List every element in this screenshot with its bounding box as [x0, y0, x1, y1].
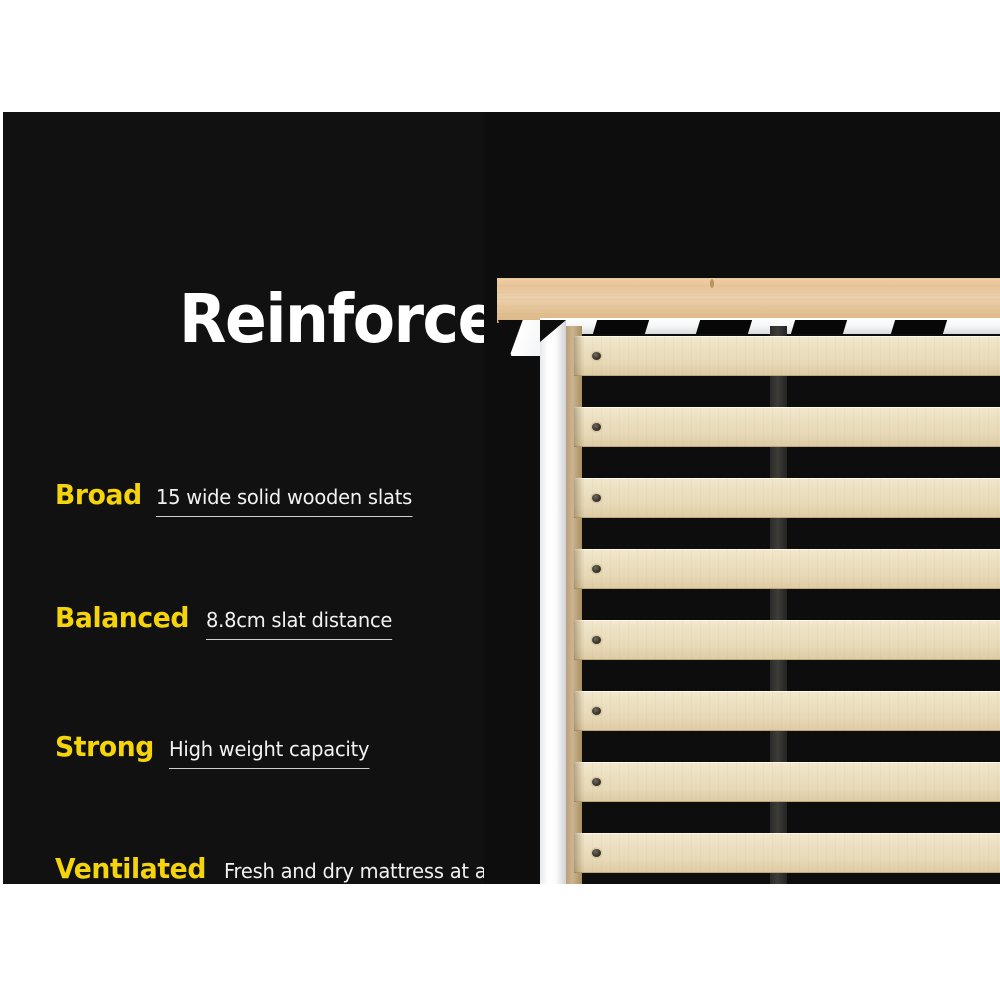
slat-end-shadow	[574, 407, 584, 447]
feature-term: Broad	[55, 478, 142, 511]
slat-screw	[592, 565, 601, 573]
wood-grain-texture	[497, 278, 1000, 323]
slat-end-shadow	[574, 336, 584, 376]
slat-end-shadow	[574, 833, 584, 873]
rail-notch	[791, 320, 847, 334]
slat-end-shadow	[574, 478, 584, 518]
rail-notch	[593, 320, 649, 334]
wood-knot	[710, 279, 714, 288]
wooden-slat	[574, 549, 1000, 589]
slat-screw	[592, 849, 601, 857]
feature-row-balanced: Balanced 8.8cm slat distance	[55, 601, 402, 640]
product-photo	[484, 112, 1000, 884]
feature-description: 15 wide solid wooden slats	[156, 485, 412, 517]
pine-top-rail	[497, 278, 1000, 323]
corner-leg-bracket	[498, 320, 546, 356]
wooden-slat	[574, 478, 1000, 518]
wood-grain-texture	[574, 407, 1000, 447]
wood-grain-texture	[574, 620, 1000, 660]
feature-term: Ventilated	[55, 852, 206, 884]
poster-canvas: Reinforced thick slats Broad 15 wide sol…	[0, 0, 1000, 1000]
slat-screw	[592, 778, 601, 786]
wooden-slat	[574, 336, 1000, 376]
rail-notch	[891, 320, 947, 334]
slat-screw	[592, 423, 601, 431]
wood-grain-texture	[574, 549, 1000, 589]
rail-notch	[696, 320, 752, 334]
wooden-slat	[574, 407, 1000, 447]
wooden-slat	[574, 833, 1000, 873]
slat-end-shadow	[574, 549, 584, 589]
wooden-slat	[574, 762, 1000, 802]
feature-row-broad: Broad 15 wide solid wooden slats	[55, 478, 426, 517]
wood-grain-texture	[574, 833, 1000, 873]
feature-term: Strong	[55, 730, 154, 763]
slat-end-shadow	[574, 762, 584, 802]
feature-term: Balanced	[55, 601, 189, 634]
slat-end-shadow	[574, 691, 584, 731]
wood-grain-texture	[574, 762, 1000, 802]
white-side-rail	[540, 320, 566, 884]
wooden-slat	[574, 691, 1000, 731]
slat-end-shadow	[574, 620, 584, 660]
feature-description: 8.8cm slat distance	[206, 608, 392, 640]
slat-screw	[592, 494, 601, 502]
slat-screw	[592, 636, 601, 644]
slat-screw	[592, 707, 601, 715]
slat-screw	[592, 352, 601, 360]
feature-row-strong: Strong High weight capacity	[55, 730, 380, 769]
feature-description: High weight capacity	[169, 737, 369, 769]
wood-grain-texture	[574, 478, 1000, 518]
wooden-slat	[574, 620, 1000, 660]
wood-grain-texture	[574, 691, 1000, 731]
wood-grain-texture	[574, 336, 1000, 376]
